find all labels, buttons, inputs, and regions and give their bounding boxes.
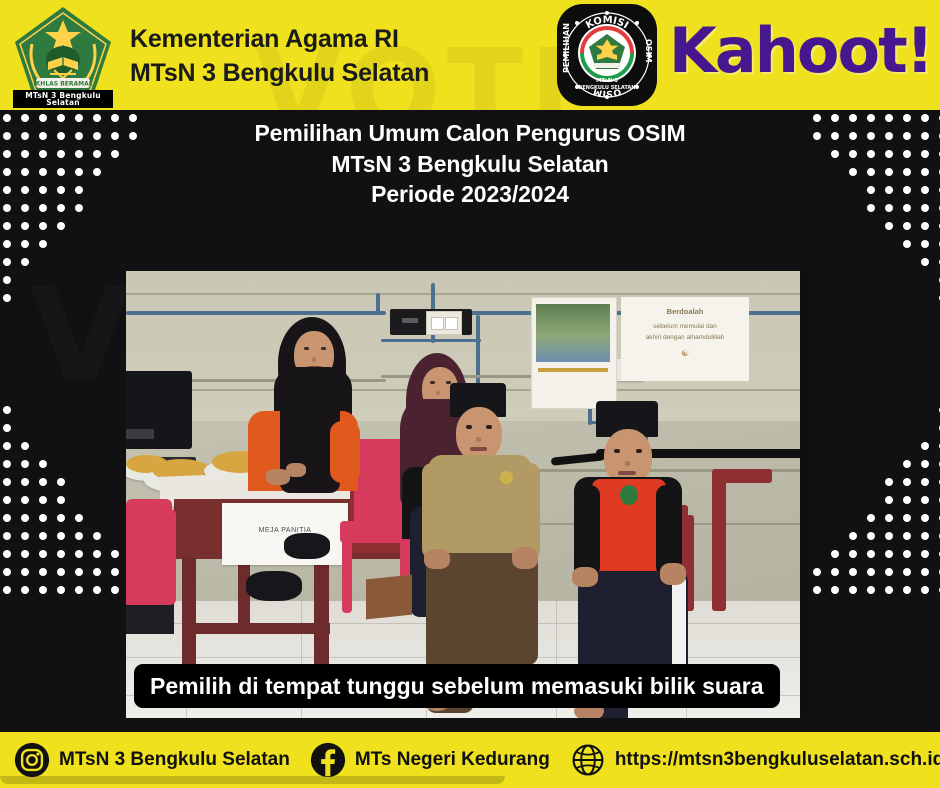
footer-item-facebook[interactable]: MTs Negeri Kedurang	[310, 742, 550, 778]
event-title-line-1: Pemilihan Umum Calon Pengurus OSIM	[0, 118, 940, 149]
svg-text:IKHLAS BERAMAL: IKHLAS BERAMAL	[33, 81, 92, 88]
poster-root: VOTE IKHLAS BERAMAL MTsN 3 Ben	[0, 0, 940, 788]
event-photo: Berdoalah sebelum memulai dan akhiri den…	[126, 271, 808, 718]
wall-prayer-poster: Berdoalah sebelum memulai dan akhiri den…	[621, 297, 749, 381]
footer-instagram-label[interactable]: MTsN 3 Bengkulu Selatan	[59, 749, 290, 771]
photo-caption-label: Pemilih di tempat tunggu sebelum memasuk…	[150, 673, 764, 700]
poster-line-3: akhiri dengan alhamdulillah	[621, 334, 749, 341]
kemenag-logo: IKHLAS BERAMAL MTsN 3 Bengkulu Selatan	[10, 4, 116, 108]
photo-caption-badge: Pemilih di tempat tunggu sebelum memasuk…	[134, 664, 780, 708]
header-bar: VOTE IKHLAS BERAMAL MTsN 3 Ben	[0, 0, 940, 110]
svg-text:OSIM: OSIM	[644, 39, 653, 63]
desk-sign-label: MEJA PANITIA	[222, 527, 348, 534]
footer-website-label[interactable]: https://mtsn3bengkuluselatan.sch.id/	[615, 749, 940, 771]
poster-line-2: sebelum memulai dan	[621, 323, 749, 330]
event-title-line-3: Periode 2023/2024	[0, 179, 940, 210]
header-right-group: KOMISI OSIM PEMILIHAN OSIM MTsN 3	[553, 2, 932, 108]
svg-text:BENGKULU SELATAN: BENGKULU SELATAN	[578, 85, 635, 91]
poster-line-1: Berdoalah	[621, 307, 749, 316]
facebook-icon[interactable]	[310, 742, 346, 778]
event-title-line-2: MTsN 3 Bengkulu Selatan	[0, 149, 940, 180]
globe-icon[interactable]	[570, 742, 606, 778]
wall-photo-frame	[531, 297, 617, 409]
svg-text:MTsN 3: MTsN 3	[596, 78, 618, 84]
footer-bar: MTsN 3 Bengkulu Selatan MTs Negeri Kedur…	[0, 732, 940, 788]
event-title-block: Pemilihan Umum Calon Pengurus OSIM MTsN …	[0, 118, 940, 210]
footer-content: MTsN 3 Bengkulu Selatan MTs Negeri Kedur…	[0, 736, 940, 784]
instagram-icon[interactable]	[14, 742, 50, 778]
header-org-line-2: MTsN 3 Bengkulu Selatan	[130, 60, 429, 86]
footer-item-website[interactable]: https://mtsn3bengkuluselatan.sch.id/	[570, 742, 940, 778]
footer-item-instagram[interactable]: MTsN 3 Bengkulu Selatan	[14, 742, 290, 778]
kemenag-logo-caption: MTsN 3 Bengkulu Selatan	[13, 90, 113, 108]
desk-monitor	[126, 371, 192, 449]
header-left-group: IKHLAS BERAMAL MTsN 3 Bengkulu Selatan K…	[10, 4, 429, 108]
desk-sign: MEJA PANITIA	[222, 503, 348, 565]
svg-text:PEMILIHAN: PEMILIHAN	[562, 23, 571, 73]
dot-pattern-bottom-left	[0, 402, 130, 732]
header-title-group: Kementerian Agama RI MTsN 3 Bengkulu Sel…	[130, 26, 429, 87]
footer-facebook-label[interactable]: MTs Negeri Kedurang	[355, 749, 550, 771]
content-stage: VOTE Pemilihan Umum Calon Pengurus OSIM …	[0, 110, 940, 732]
dot-pattern-bottom-right	[810, 402, 940, 732]
osim-logo: KOMISI OSIM PEMILIHAN OSIM MTsN 3	[553, 3, 661, 107]
wall-switch	[426, 311, 462, 335]
header-org-line-1: Kementerian Agama RI	[130, 26, 429, 52]
osim-emblem-icon: KOMISI OSIM PEMILIHAN OSIM MTsN 3	[553, 3, 661, 107]
kahoot-brand-logo: Kahoot!	[669, 20, 932, 82]
